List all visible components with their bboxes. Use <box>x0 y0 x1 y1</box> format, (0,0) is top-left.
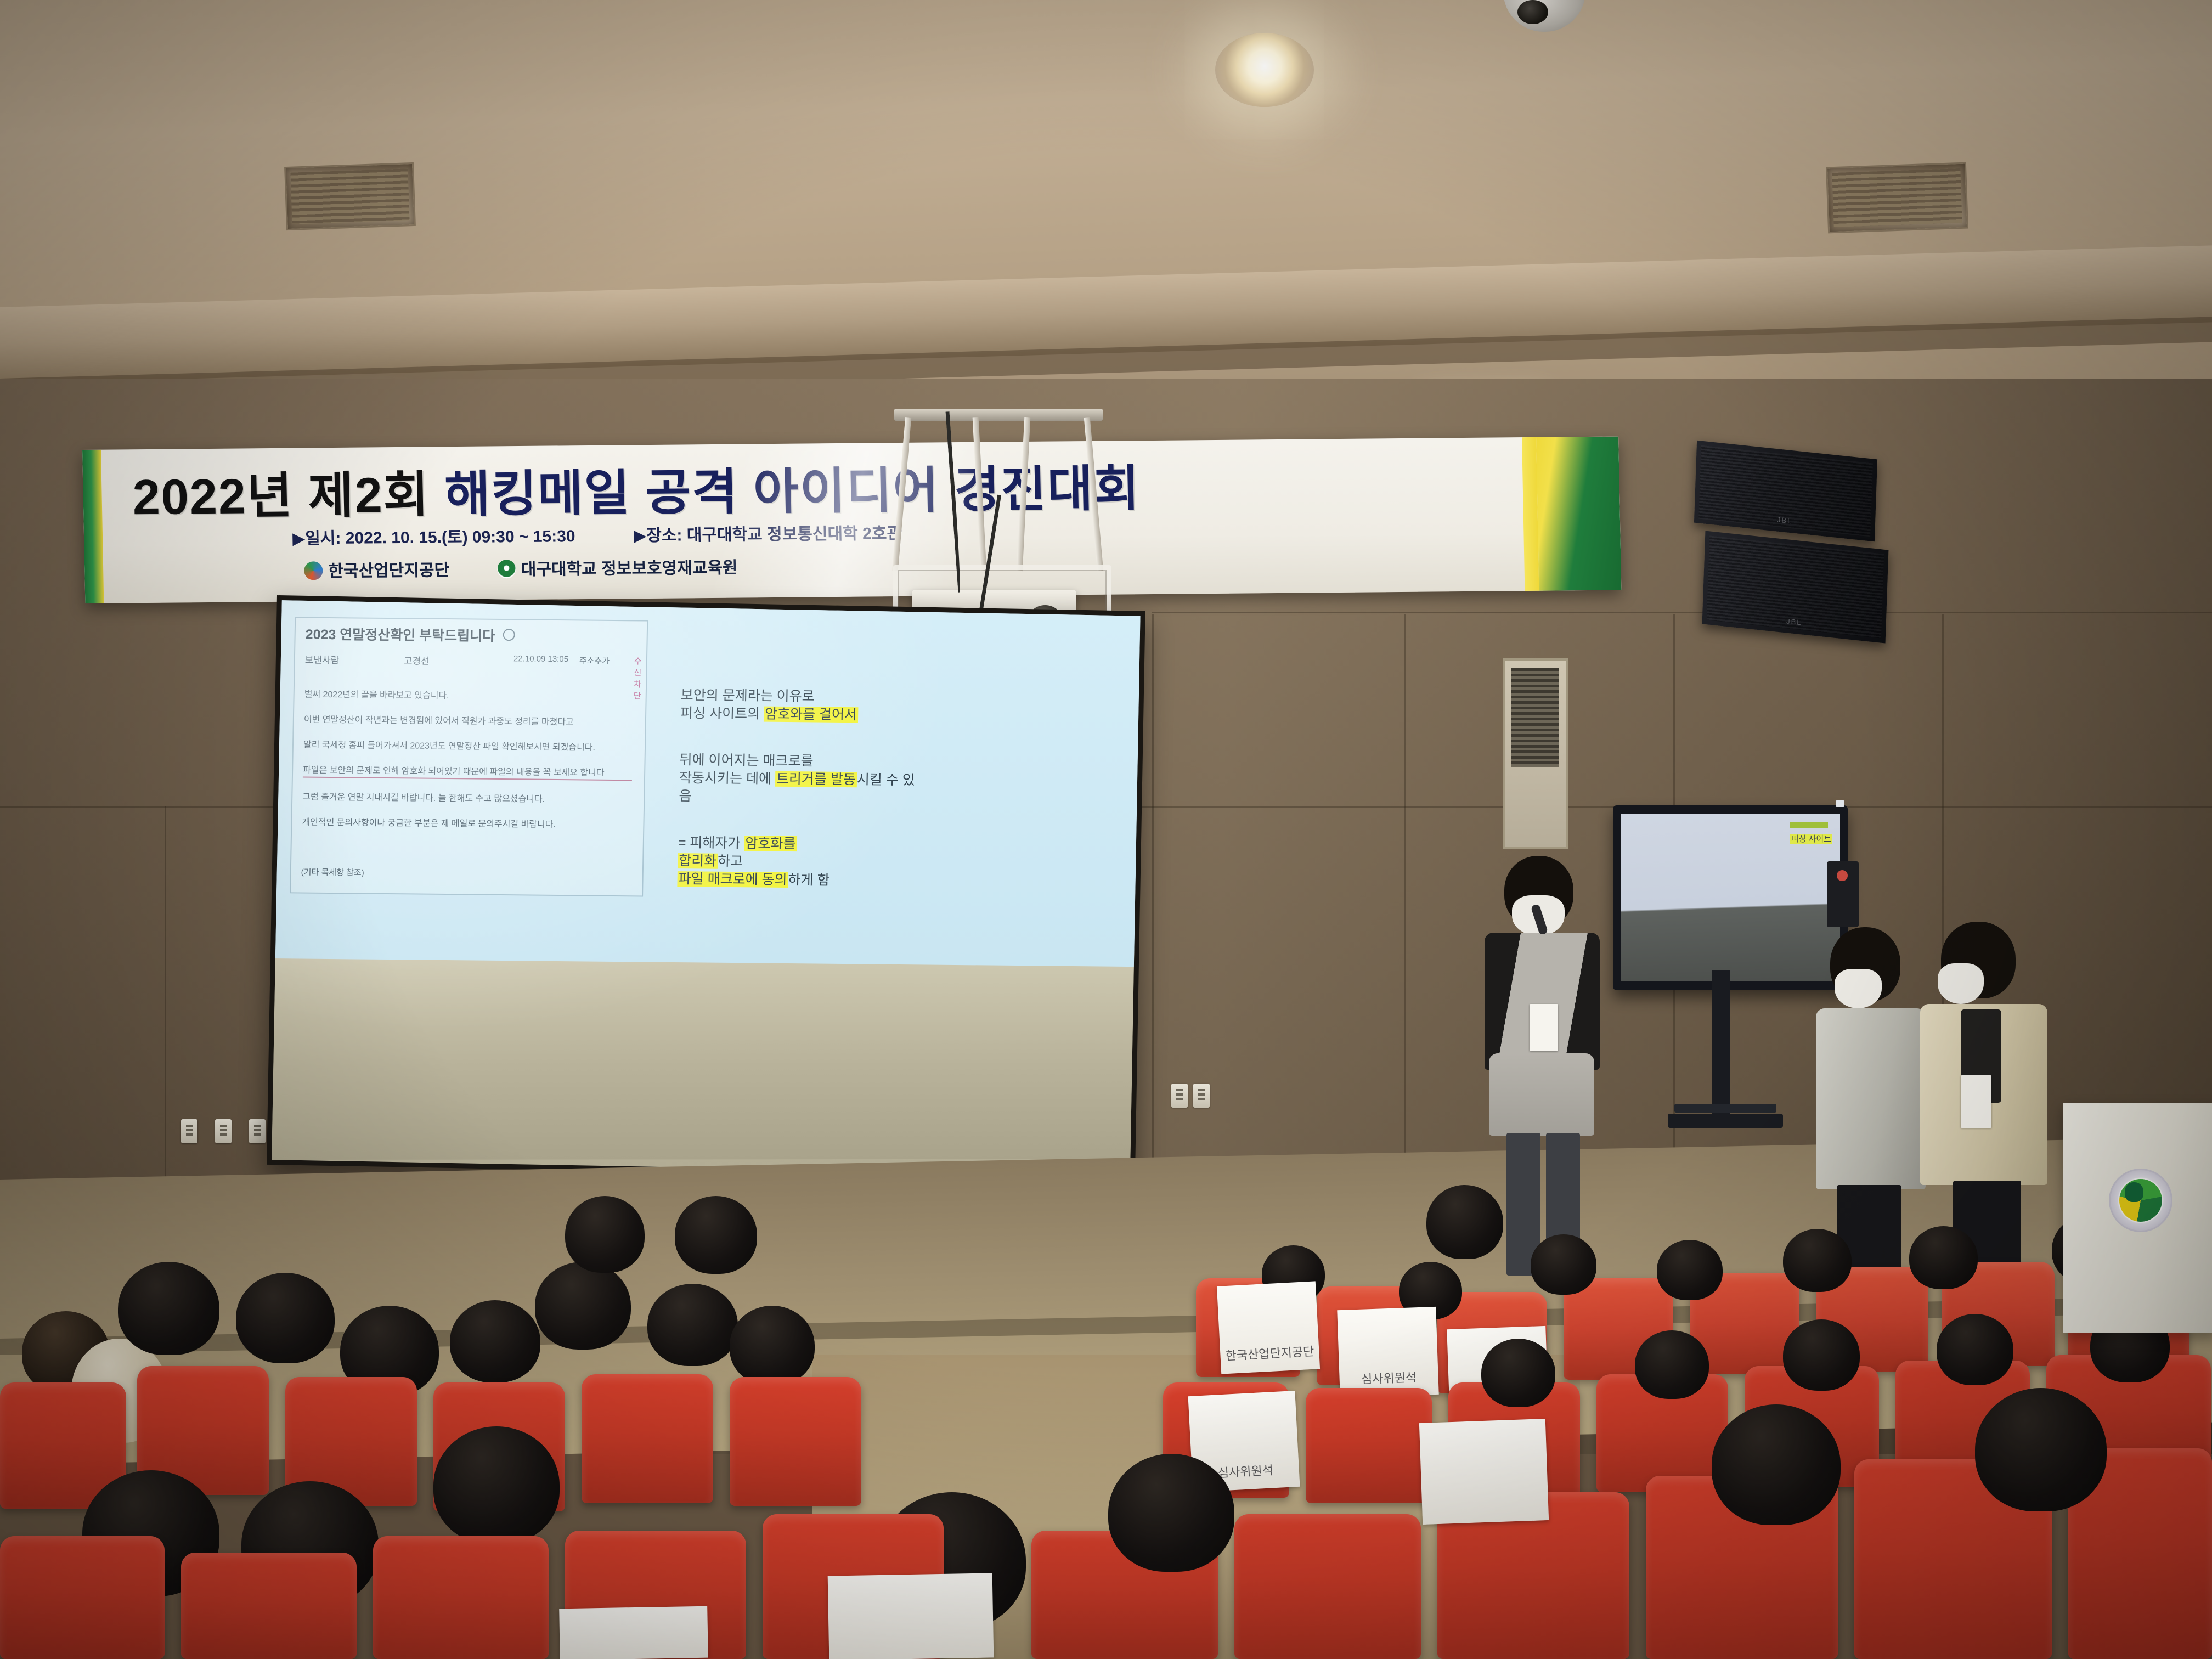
audience-head <box>433 1426 560 1544</box>
note-2-mid: 작동시키는 데에 <box>679 770 775 787</box>
block-sender-button[interactable]: 수신차단 <box>634 655 642 701</box>
audience-head <box>1975 1388 2107 1511</box>
audience-head <box>1635 1330 1709 1399</box>
smiley-icon <box>503 629 515 641</box>
reserved-card-label: 한국산업단지공단 <box>1225 1342 1315 1374</box>
note-3-mid: 하고 <box>718 854 743 869</box>
wall-air-return <box>1503 658 1568 849</box>
daegu-university-emblem <box>2109 1169 2172 1232</box>
seat[interactable] <box>373 1536 549 1659</box>
audience-head <box>1909 1226 1978 1289</box>
email-body: 벌써 2022년의 끝을 바라보고 있습니다. 이번 연말정산이 작년과는 변경… <box>302 690 634 846</box>
reserved-seat-card: 심사위원석 <box>1337 1307 1438 1398</box>
email-body-line: 이번 연말정산이 작년과는 변경됨에 있어서 직원가 과중도 정리를 마쳤다고 <box>304 715 633 729</box>
note-1-highlight: 암호와를 걸어서 <box>764 707 858 723</box>
audience-head <box>1783 1319 1860 1391</box>
slide-annotation-notes: 보안의 문제라는 이유로 피싱 사이트의 암호와를 걸어서 뒤에 이어지는 매크… <box>676 686 966 919</box>
audience-head <box>647 1284 738 1366</box>
wall-outlet[interactable] <box>249 1119 266 1143</box>
security-camera-icon <box>1503 0 1585 44</box>
email-body-line-underlined: 파일은 보안의 문제로 인해 암호화 되어있기 때문에 파일의 내용을 꼭 보세… <box>303 765 632 781</box>
audience-head <box>1657 1240 1723 1300</box>
note-3-bullet: = 피해자가 <box>678 835 744 851</box>
audience-head <box>565 1196 645 1273</box>
seat[interactable] <box>1234 1514 1421 1659</box>
screen-lower-unlit-area <box>272 952 1134 1160</box>
email-body-line: 벌써 2022년의 끝을 바라보고 있습니다. <box>304 690 633 704</box>
banner-glare <box>82 437 1621 603</box>
wall-seam <box>1404 614 1406 1180</box>
note-3-highlight-2: 합리화 <box>678 853 718 869</box>
seat[interactable] <box>181 1553 357 1659</box>
wall-outlet[interactable] <box>181 1119 198 1143</box>
audience-head <box>1426 1185 1503 1259</box>
seat[interactable] <box>730 1377 861 1506</box>
reserved-seat-card <box>828 1573 994 1659</box>
reserved-seat-card <box>559 1606 708 1659</box>
monitor-stand-base <box>1668 1114 1783 1128</box>
email-from-label: 보낸사람 <box>305 652 340 667</box>
audience-head <box>1783 1229 1852 1292</box>
wall-seam <box>165 806 166 1180</box>
email-date: 22.10.09 13:05 <box>513 654 568 664</box>
reserved-seat-card: 한국산업단지공단 <box>1217 1281 1320 1374</box>
note-2-tail: 시킬 수 있 <box>857 772 915 788</box>
note-2-last: 음 <box>679 788 692 804</box>
audience-head <box>236 1273 335 1363</box>
monitor-mirrored-text: 피싱 사이트 <box>1790 833 1832 844</box>
presenter-name-badge <box>1530 1004 1558 1051</box>
note-3-highlight-1: 암호화를 <box>744 836 797 851</box>
audience-head <box>1937 1314 2013 1385</box>
photo-scene: JBL JBL 2022년 제2회 해킹메일 공격 아이디어 경진대회 ▶일시:… <box>0 0 2212 1659</box>
note-1-line-1: 보안의 문제라는 이유로 <box>681 687 815 704</box>
monitor-power-led <box>1836 800 1844 807</box>
confidence-monitor: 피싱 사이트 <box>1613 805 1848 990</box>
email-body-line: 그럼 즐거운 연말 지내시길 바랍니다. 늘 한해도 수고 많으셨습니다. <box>302 792 631 806</box>
audience-head <box>535 1262 631 1350</box>
presenter-name-badge <box>1961 1075 1991 1128</box>
note-3-highlight-3: 파일 매크로에 동의 <box>677 871 788 888</box>
note-1-line-2: 피싱 사이트의 <box>680 706 764 721</box>
seat[interactable] <box>1306 1388 1432 1503</box>
projection-screen: 2023 연말정산확인 부탁드립니다 보낸사람 고경선 22.10.09 13:… <box>267 595 1145 1181</box>
wall-outlet[interactable] <box>1171 1084 1188 1108</box>
audience-head <box>1712 1404 1841 1525</box>
audience-head <box>450 1300 540 1383</box>
note-block-2: 뒤에 이어지는 매크로를 작동시키는 데에 트리거를 발동시킬 수 있 음 <box>679 751 965 808</box>
email-subject: 2023 연말정산확인 부탁드립니다 <box>305 624 515 646</box>
note-block-1: 보안의 문제라는 이유로 피싱 사이트의 암호와를 걸어서 <box>680 686 966 725</box>
email-signature: (기타 목세항 참조) <box>301 866 364 878</box>
audience-head <box>1531 1234 1596 1295</box>
monitor-stand-tray <box>1674 1104 1776 1113</box>
ceiling-downlight-center <box>1215 33 1314 107</box>
email-body-line: 개인적인 문의사항이나 궁금한 부분은 제 메일로 문의주시길 바랍니다. <box>302 817 631 832</box>
monitor-mini-highlight-bar <box>1790 822 1828 828</box>
event-banner: 2022년 제2회 해킹메일 공격 아이디어 경진대회 ▶일시: 2022. 1… <box>82 437 1621 603</box>
monitor-stand-column <box>1712 970 1730 1118</box>
email-body-line: 알리 국세청 홈피 들어가셔서 2023년도 연말정산 파일 확인해보시면 되겠… <box>303 740 633 754</box>
note-2-lead: 뒤에 이어지는 매크로를 <box>679 752 813 769</box>
note-3-tail: 하게 함 <box>788 872 830 888</box>
wall-control-panel[interactable] <box>1827 861 1859 927</box>
email-meta-row: 보낸사람 고경선 22.10.09 13:05 주소추가 수신차단 <box>305 652 634 656</box>
note-block-3: = 피해자가 암호화를 합리화하고 파일 매크로에 동의하게 함 <box>677 834 963 891</box>
note-2-highlight: 트리거를 발동 <box>775 771 857 787</box>
seat[interactable] <box>0 1536 165 1659</box>
projected-slide: 2023 연말정산확인 부탁드립니다 보낸사람 고경선 22.10.09 13:… <box>275 600 1141 967</box>
line-array-speaker-bottom: JBL <box>1702 531 1889 644</box>
audience-head <box>1108 1454 1234 1572</box>
audience-head <box>675 1196 757 1274</box>
seat[interactable] <box>582 1374 713 1503</box>
podium <box>2063 1103 2212 1333</box>
email-mockup-card: 2023 연말정산확인 부탁드립니다 보낸사람 고경선 22.10.09 13:… <box>290 617 648 896</box>
wall-seam <box>1152 614 1154 1180</box>
wall-seam <box>1152 612 2212 613</box>
reserved-seat-card <box>1419 1419 1549 1525</box>
ceiling-vent-right <box>1826 162 1968 234</box>
audience-head <box>730 1306 815 1385</box>
ceiling-vent-left <box>284 162 416 230</box>
add-address-button[interactable]: 주소추가 <box>579 654 610 667</box>
wall-outlet[interactable] <box>215 1119 232 1143</box>
audience-head <box>1481 1339 1555 1407</box>
wall-outlet[interactable] <box>1193 1084 1210 1108</box>
audience-head <box>118 1262 219 1355</box>
email-from-value: 고경선 <box>404 653 430 667</box>
